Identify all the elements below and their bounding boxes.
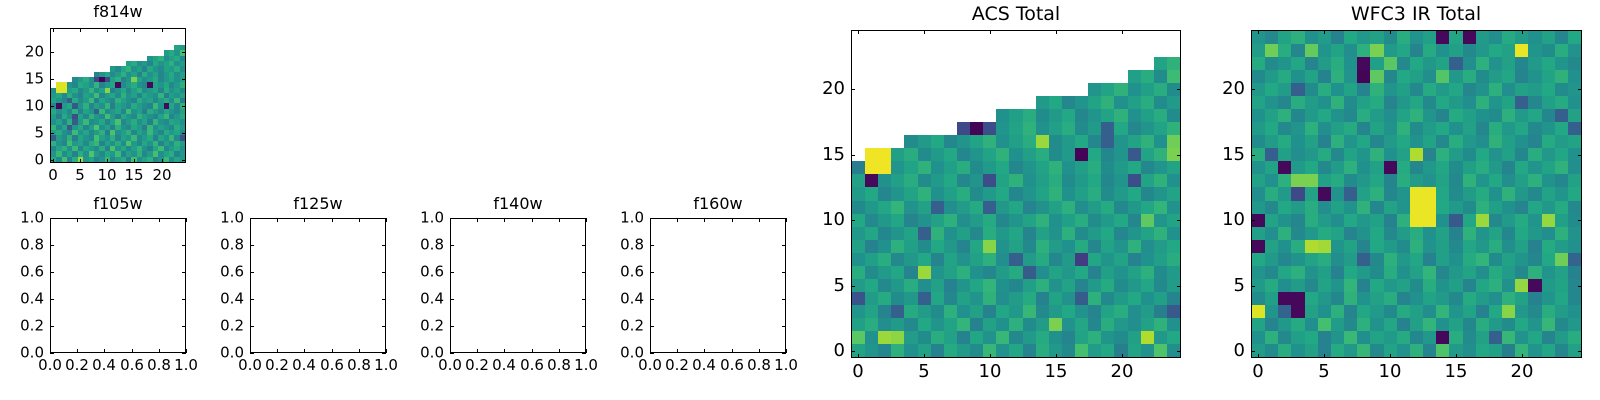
heatmap-cell — [1502, 331, 1515, 344]
heatmap-cell — [1476, 57, 1489, 70]
heatmap-cell — [1528, 344, 1541, 357]
heatmap-cell — [1410, 31, 1423, 44]
heatmap-cell — [1291, 292, 1304, 305]
heatmap-cell — [1542, 135, 1555, 148]
heatmap-cell — [1291, 240, 1304, 253]
heatmap-cell — [1278, 266, 1291, 279]
heatmap-cell — [1397, 109, 1410, 122]
heatmap-cell — [1252, 292, 1265, 305]
heatmap-cell — [1423, 109, 1436, 122]
heatmap-cell — [1397, 344, 1410, 357]
heatmap-cell — [1370, 214, 1383, 227]
heatmap-cell — [1476, 253, 1489, 266]
heatmap-cell — [1463, 83, 1476, 96]
heatmap-cell — [1252, 174, 1265, 187]
heatmap-cell — [1344, 318, 1357, 331]
heatmap-cell — [1555, 240, 1568, 253]
heatmap-cell — [1489, 344, 1502, 357]
heatmap-cell — [1568, 31, 1581, 44]
heatmap-cell — [1436, 70, 1449, 83]
heatmap-cell — [1449, 279, 1462, 292]
heatmap-cell — [1318, 187, 1331, 200]
heatmap-cell — [1423, 253, 1436, 266]
heatmap-cell — [1502, 253, 1515, 266]
heatmap-cell — [1568, 109, 1581, 122]
heatmap-cell — [1502, 44, 1515, 57]
heatmap-cell — [1555, 331, 1568, 344]
heatmap-cell — [1568, 240, 1581, 253]
heatmap-cell — [1463, 109, 1476, 122]
heatmap-cell — [1542, 174, 1555, 187]
heatmap-cell — [1476, 44, 1489, 57]
heatmap-cell — [1449, 331, 1462, 344]
heatmap-cell — [1305, 96, 1318, 109]
heatmap-cell — [1502, 344, 1515, 357]
heatmap-cell — [1252, 253, 1265, 266]
heatmap-cell — [1436, 331, 1449, 344]
heatmap-cell — [1502, 292, 1515, 305]
heatmap-cell — [1489, 305, 1502, 318]
heatmap-cell — [1265, 44, 1278, 57]
heatmap-cell — [1344, 148, 1357, 161]
heatmap-cell — [1331, 292, 1344, 305]
heatmap-cell — [1344, 174, 1357, 187]
heatmap-cell — [1357, 227, 1370, 240]
heatmap-cell — [1265, 292, 1278, 305]
heatmap-cell — [1344, 57, 1357, 70]
heatmap-cell — [1397, 253, 1410, 266]
heatmap-cell — [1489, 109, 1502, 122]
heatmap-cell — [1489, 122, 1502, 135]
heatmap-cell — [1542, 292, 1555, 305]
heatmap-cell — [1331, 135, 1344, 148]
heatmap-cell — [1331, 253, 1344, 266]
x-tick-top — [1258, 30, 1259, 34]
heatmap-cell — [1384, 253, 1397, 266]
heatmap-cell — [1344, 292, 1357, 305]
heatmap-cell — [1515, 148, 1528, 161]
heatmap-cell — [1318, 57, 1331, 70]
x-tick-label: 10 — [1379, 363, 1402, 381]
heatmap-cell — [1278, 240, 1291, 253]
heatmap-cell — [1568, 57, 1581, 70]
heatmap-cell — [1515, 187, 1528, 200]
heatmap-cell — [1410, 266, 1423, 279]
heatmap-cell — [1370, 279, 1383, 292]
heatmap-cell — [1305, 240, 1318, 253]
heatmap-cell — [1305, 187, 1318, 200]
heatmap-cell — [1344, 253, 1357, 266]
heatmap-cell — [1515, 83, 1528, 96]
heatmap-cell — [1528, 214, 1541, 227]
heatmap-cell — [1318, 318, 1331, 331]
heatmap-cell — [1265, 148, 1278, 161]
x-tick-label: 0 — [1252, 363, 1263, 381]
heatmap-cell — [1515, 214, 1528, 227]
heatmap-cell — [1436, 96, 1449, 109]
heatmap-cell — [1502, 135, 1515, 148]
heatmap-cell — [1528, 148, 1541, 161]
heatmap-cell — [1397, 214, 1410, 227]
heatmap-cell — [1370, 83, 1383, 96]
y-tick-right — [1578, 155, 1582, 156]
heatmap-cell — [1476, 344, 1489, 357]
heatmap-cell — [1476, 96, 1489, 109]
heatmap-cell — [1278, 331, 1291, 344]
heatmap-cell — [1370, 122, 1383, 135]
y-tick — [1251, 351, 1255, 352]
heatmap-cell — [1397, 305, 1410, 318]
heatmap-cell — [1305, 109, 1318, 122]
heatmap-cell — [1291, 344, 1304, 357]
heatmap-cell — [1252, 57, 1265, 70]
heatmap-cell — [1502, 266, 1515, 279]
heatmap-cell — [1410, 292, 1423, 305]
heatmap-cell — [1423, 135, 1436, 148]
heatmap-cell — [1278, 70, 1291, 83]
heatmap-cell — [1436, 44, 1449, 57]
heatmap-cell — [1265, 201, 1278, 214]
heatmap-cell — [1357, 174, 1370, 187]
heatmap-cell — [1410, 240, 1423, 253]
heatmap-cell — [1463, 31, 1476, 44]
heatmap-cell — [1436, 279, 1449, 292]
heatmap-cell — [1384, 109, 1397, 122]
heatmap-cell — [1542, 279, 1555, 292]
heatmap-cell — [1265, 240, 1278, 253]
heatmap-cell — [1397, 148, 1410, 161]
heatmap-cell — [1370, 331, 1383, 344]
heatmap-cell — [1436, 31, 1449, 44]
heatmap-cell — [1449, 305, 1462, 318]
heatmap-cell — [1344, 31, 1357, 44]
heatmap-cell — [1252, 266, 1265, 279]
heatmap-cell — [1463, 70, 1476, 83]
heatmap-cell — [1397, 279, 1410, 292]
heatmap-cell — [1515, 161, 1528, 174]
heatmap-cell — [1357, 253, 1370, 266]
heatmap-cell — [1410, 214, 1423, 227]
heatmap-cell — [1542, 122, 1555, 135]
heatmap-cell — [1423, 161, 1436, 174]
heatmap-cell — [1265, 109, 1278, 122]
heatmap-cell — [1305, 31, 1318, 44]
heatmap-cell — [1331, 331, 1344, 344]
heatmap-cell — [1357, 266, 1370, 279]
heatmap-cell — [1357, 318, 1370, 331]
x-tick — [1258, 354, 1259, 358]
heatmap-cell — [1555, 266, 1568, 279]
heatmap-cell — [1305, 279, 1318, 292]
heatmap-cell — [1436, 187, 1449, 200]
heatmap-cell — [1489, 201, 1502, 214]
heatmap-cell — [1318, 122, 1331, 135]
heatmap-cell — [1489, 318, 1502, 331]
heatmap-cell — [1568, 174, 1581, 187]
heatmap-cell — [1502, 122, 1515, 135]
heatmap-cell — [1291, 31, 1304, 44]
x-tick-top — [1522, 30, 1523, 34]
heatmap-cell — [1318, 109, 1331, 122]
heatmap-cell — [1331, 70, 1344, 83]
heatmap-cell — [1423, 31, 1436, 44]
heatmap-cell — [1278, 148, 1291, 161]
heatmap-cell — [1357, 331, 1370, 344]
heatmap-cell — [1502, 187, 1515, 200]
heatmap-cell — [1370, 57, 1383, 70]
heatmap-cell — [1476, 214, 1489, 227]
heatmap-cell — [1410, 135, 1423, 148]
heatmap-cell — [1370, 44, 1383, 57]
x-tick-top — [1456, 30, 1457, 34]
heatmap-cell — [1305, 135, 1318, 148]
heatmap-cell — [1265, 305, 1278, 318]
heatmap-cell — [1463, 201, 1476, 214]
heatmap-cell — [1331, 344, 1344, 357]
heatmap-cell — [1542, 240, 1555, 253]
heatmap-cell — [1344, 44, 1357, 57]
heatmap-cell — [1555, 344, 1568, 357]
heatmap-cell — [1318, 96, 1331, 109]
heatmap-cell — [1489, 96, 1502, 109]
heatmap-cell — [1265, 31, 1278, 44]
heatmap-cell — [1528, 279, 1541, 292]
heatmap-cell — [1476, 240, 1489, 253]
heatmap-cell — [1542, 305, 1555, 318]
heatmap-cell — [1436, 135, 1449, 148]
heatmap-cell — [1449, 240, 1462, 253]
heatmap-cell — [1265, 214, 1278, 227]
heatmap-cell — [1278, 279, 1291, 292]
heatmap-cell — [1344, 305, 1357, 318]
heatmap-cell — [1463, 344, 1476, 357]
heatmap-cell — [1291, 174, 1304, 187]
heatmap-cell — [1370, 266, 1383, 279]
heatmap-cell — [1291, 331, 1304, 344]
heatmap-cell — [1252, 201, 1265, 214]
heatmap-cell — [1291, 187, 1304, 200]
heatmap-cell — [1291, 148, 1304, 161]
heatmap-cell — [1515, 331, 1528, 344]
heatmap-cell — [1555, 187, 1568, 200]
heatmap-cell — [1331, 148, 1344, 161]
heatmap-cell — [1331, 161, 1344, 174]
heatmap-cell — [1515, 292, 1528, 305]
heatmap-cell — [1542, 83, 1555, 96]
heatmap-cell — [1542, 201, 1555, 214]
y-tick-label: 5 — [1189, 277, 1245, 295]
heatmap-cell — [1370, 135, 1383, 148]
heatmap-cell — [1515, 266, 1528, 279]
y-tick-label: 15 — [1189, 146, 1245, 164]
heatmap-cell — [1476, 266, 1489, 279]
heatmap-cell — [1476, 70, 1489, 83]
heatmap-cell — [1384, 227, 1397, 240]
heatmap-cell — [1528, 31, 1541, 44]
heatmap-cell — [1436, 253, 1449, 266]
heatmap-cell — [1423, 305, 1436, 318]
heatmap-cell — [1331, 31, 1344, 44]
heatmap-cell — [1357, 148, 1370, 161]
heatmap-cell — [1370, 96, 1383, 109]
heatmap-cell — [1555, 305, 1568, 318]
heatmap-cell — [1397, 57, 1410, 70]
heatmap-cell — [1502, 83, 1515, 96]
heatmap-cell — [1542, 253, 1555, 266]
heatmap-cell — [1384, 122, 1397, 135]
heatmap-cell — [1397, 227, 1410, 240]
heatmap-cell — [1357, 201, 1370, 214]
heatmap-cell — [1515, 44, 1528, 57]
x-tick-label: 20 — [1511, 363, 1534, 381]
heatmap-cell — [1265, 57, 1278, 70]
heatmap-cell — [1370, 161, 1383, 174]
heatmap-cell — [1489, 331, 1502, 344]
heatmap-cell — [1489, 279, 1502, 292]
heatmap-cell — [1436, 109, 1449, 122]
heatmap-cell — [1357, 122, 1370, 135]
heatmap-cell — [1463, 240, 1476, 253]
heatmap-cell — [1278, 187, 1291, 200]
heatmap-cell — [1397, 122, 1410, 135]
heatmap-cell — [1265, 279, 1278, 292]
heatmap-cell — [1344, 344, 1357, 357]
heatmap-cell — [1305, 331, 1318, 344]
heatmap-cell — [1555, 161, 1568, 174]
heatmap-cell — [1397, 44, 1410, 57]
heatmap-cell — [1542, 161, 1555, 174]
heatmap-cell — [1410, 331, 1423, 344]
heatmap-cell — [1331, 174, 1344, 187]
heatmap-cell — [1423, 292, 1436, 305]
heatmap-cell — [1370, 70, 1383, 83]
heatmap-cell — [1542, 70, 1555, 83]
heatmap-cell — [1423, 201, 1436, 214]
heatmap-cell — [1291, 83, 1304, 96]
heatmap-cell — [1397, 201, 1410, 214]
heatmap-cell — [1305, 57, 1318, 70]
heatmap-cell — [1489, 240, 1502, 253]
heatmap-cell — [1318, 148, 1331, 161]
heatmap-cell — [1542, 266, 1555, 279]
heatmap-cell — [1410, 44, 1423, 57]
heatmap-cell — [1318, 227, 1331, 240]
heatmap-cell — [1370, 109, 1383, 122]
heatmap-cell — [1305, 122, 1318, 135]
heatmap-cell — [1384, 187, 1397, 200]
heatmap-cell — [1463, 122, 1476, 135]
heatmap-cell — [1489, 135, 1502, 148]
heatmap-cell — [1384, 83, 1397, 96]
heatmap-cell — [1265, 122, 1278, 135]
heatmap-cell — [1357, 83, 1370, 96]
heatmap-cell — [1476, 135, 1489, 148]
heatmap-cell — [1291, 305, 1304, 318]
heatmap-cell — [1463, 148, 1476, 161]
heatmap-cell — [1568, 266, 1581, 279]
heatmap-cell — [1305, 318, 1318, 331]
heatmap-cell — [1568, 253, 1581, 266]
heatmap-cell — [1436, 83, 1449, 96]
heatmap-cell — [1489, 214, 1502, 227]
heatmap-cell — [1542, 344, 1555, 357]
heatmap-cell — [1476, 109, 1489, 122]
heatmap-cell — [1305, 201, 1318, 214]
heatmap-cell — [1502, 70, 1515, 83]
x-tick-label: 15 — [1445, 363, 1468, 381]
heatmap-cell — [1344, 135, 1357, 148]
heatmap-cell — [1265, 331, 1278, 344]
heatmap-cell — [1515, 305, 1528, 318]
heatmap-cell — [1489, 31, 1502, 44]
heatmap-cell — [1265, 70, 1278, 83]
heatmap-cell — [1410, 83, 1423, 96]
y-tick-label: 10 — [1189, 211, 1245, 229]
heatmap-cell — [1528, 161, 1541, 174]
heatmap-cell — [1305, 227, 1318, 240]
heatmap-cell — [1331, 305, 1344, 318]
heatmap-cell — [1278, 214, 1291, 227]
heatmap-cell — [1278, 122, 1291, 135]
heatmap-cell — [1515, 174, 1528, 187]
heatmap-cell — [1252, 109, 1265, 122]
heatmap-cell — [1423, 227, 1436, 240]
heatmap-cell — [1410, 57, 1423, 70]
heatmap-cell — [1331, 240, 1344, 253]
heatmap-cell — [1502, 148, 1515, 161]
heatmap-cell — [1515, 109, 1528, 122]
heatmap-cell — [1502, 279, 1515, 292]
heatmap-cell — [1463, 292, 1476, 305]
heatmap-cell — [1542, 109, 1555, 122]
heatmap-cell — [1384, 148, 1397, 161]
heatmap-cell — [1252, 305, 1265, 318]
heatmap-cell — [1397, 83, 1410, 96]
heatmap-cell — [1410, 318, 1423, 331]
y-tick — [1251, 286, 1255, 287]
heatmap-cell — [1542, 187, 1555, 200]
heatmap-cell — [1449, 96, 1462, 109]
heatmap-cell — [1318, 161, 1331, 174]
y-tick-right — [1578, 351, 1582, 352]
heatmap-cell — [1384, 279, 1397, 292]
heatmap-cell — [1278, 44, 1291, 57]
heatmap-cell — [1318, 305, 1331, 318]
heatmap-cell — [1555, 70, 1568, 83]
heatmap-cell — [1568, 227, 1581, 240]
heatmap-cell — [1423, 57, 1436, 70]
y-tick — [1251, 89, 1255, 90]
heatmap-cell — [1528, 201, 1541, 214]
heatmap-cell — [1410, 70, 1423, 83]
heatmap-cell — [1252, 70, 1265, 83]
heatmap-cell — [1291, 279, 1304, 292]
heatmap-cell — [1291, 161, 1304, 174]
heatmap-cell — [1476, 201, 1489, 214]
heatmap-cell — [1528, 305, 1541, 318]
heatmap-cell — [1384, 161, 1397, 174]
heatmap-cell — [1568, 292, 1581, 305]
heatmap-cell — [1344, 240, 1357, 253]
heatmap-cell — [1252, 122, 1265, 135]
heatmap-cell — [1528, 122, 1541, 135]
heatmap-cell — [1423, 266, 1436, 279]
heatmap-cell — [1344, 214, 1357, 227]
heatmap-cell — [1423, 240, 1436, 253]
heatmap-cell — [1463, 44, 1476, 57]
heatmap-cell — [1252, 135, 1265, 148]
heatmap-cell — [1410, 227, 1423, 240]
